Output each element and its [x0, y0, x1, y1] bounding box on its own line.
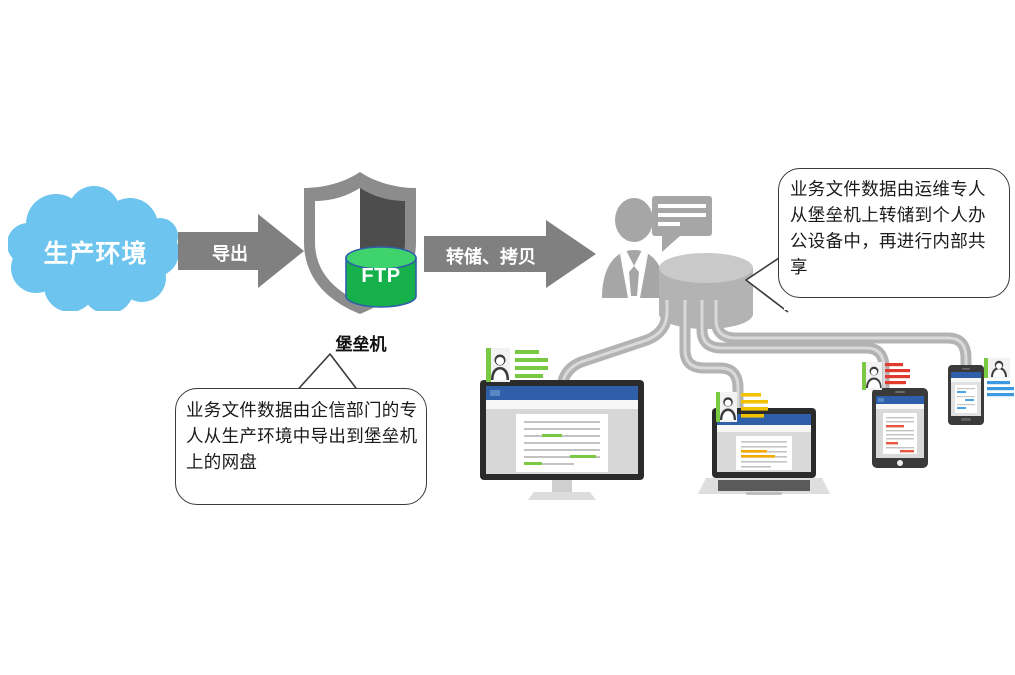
laptop-icon: [698, 408, 830, 504]
tablet-icon: [872, 388, 928, 468]
callout-left-text: 业务文件数据由企信部门的专人从生产环境中导出到堡垒机上的网盘: [186, 397, 418, 475]
device-tablet: [872, 388, 928, 468]
device-laptop: [698, 408, 830, 504]
user-card-icon: [486, 348, 548, 382]
user-card-laptop: [716, 392, 768, 422]
user-card-icon: [716, 392, 768, 422]
smartphone-icon: [948, 365, 984, 425]
user-card-icon: [984, 358, 1014, 400]
arrow-transfer-copy-label: 转储、拷贝: [430, 243, 552, 269]
user-card-icon: [862, 362, 910, 390]
desktop-monitor-icon: [478, 378, 646, 502]
cloud-label: 生产环境: [8, 234, 183, 270]
diagram-canvas: 生产环境 导出 FTP 堡垒机 转储、拷贝: [0, 0, 1015, 675]
device-desktop-monitor: [478, 378, 646, 502]
user-card-phone: [984, 358, 1014, 400]
device-smartphone: [948, 365, 984, 425]
ftp-label: FTP: [344, 265, 418, 288]
callout-right-text: 业务文件数据由运维专人从堡垒机上转储到个人办公设备中，再进行内部共享: [790, 176, 1002, 280]
user-card-monitor: [486, 348, 548, 382]
arrow-export-label: 导出: [186, 240, 274, 266]
user-card-tablet: [862, 362, 910, 390]
